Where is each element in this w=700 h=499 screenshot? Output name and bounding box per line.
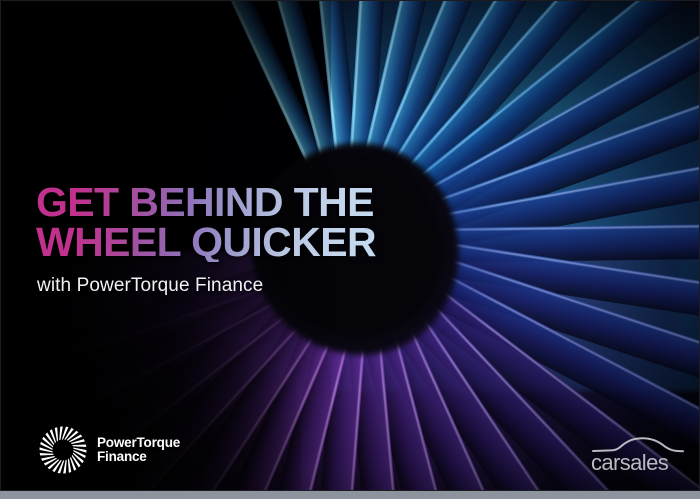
- turbine-blade-segment: [68, 459, 71, 473]
- powertorque-word-line1: PowerTorque: [97, 436, 180, 450]
- powertorque-word-line2: Finance: [97, 450, 180, 464]
- page-canvas: GET BEHIND THE WHEEL QUICKER with PowerT…: [0, 0, 700, 499]
- subheadline: with PowerTorque Finance: [37, 276, 466, 297]
- turbine-blade-segment: [62, 427, 69, 440]
- powertorque-logo[interactable]: PowerTorque Finance: [38, 425, 180, 475]
- headline-line-1: GET BEHIND THE: [36, 182, 466, 222]
- powertorque-wordmark: PowerTorque Finance: [97, 436, 180, 464]
- turbine-blades-icon: [38, 425, 88, 475]
- turbine-blade-segment: [55, 427, 58, 441]
- copy-block: GET BEHIND THE WHEEL QUICKER with PowerT…: [36, 182, 466, 297]
- ad-banner[interactable]: GET BEHIND THE WHEEL QUICKER with PowerT…: [0, 0, 700, 491]
- headline: GET BEHIND THE WHEEL QUICKER: [36, 182, 466, 262]
- headline-line-2: WHEEL QUICKER: [36, 222, 466, 262]
- carsales-wordmark: carsales: [591, 452, 685, 474]
- turbine-blade-segment: [40, 453, 54, 456]
- carsales-logo[interactable]: carsales: [591, 436, 685, 478]
- turbine-blade-segment: [58, 460, 65, 473]
- turbine-blade-segment: [72, 444, 86, 447]
- page-bottom-strip: [0, 491, 700, 499]
